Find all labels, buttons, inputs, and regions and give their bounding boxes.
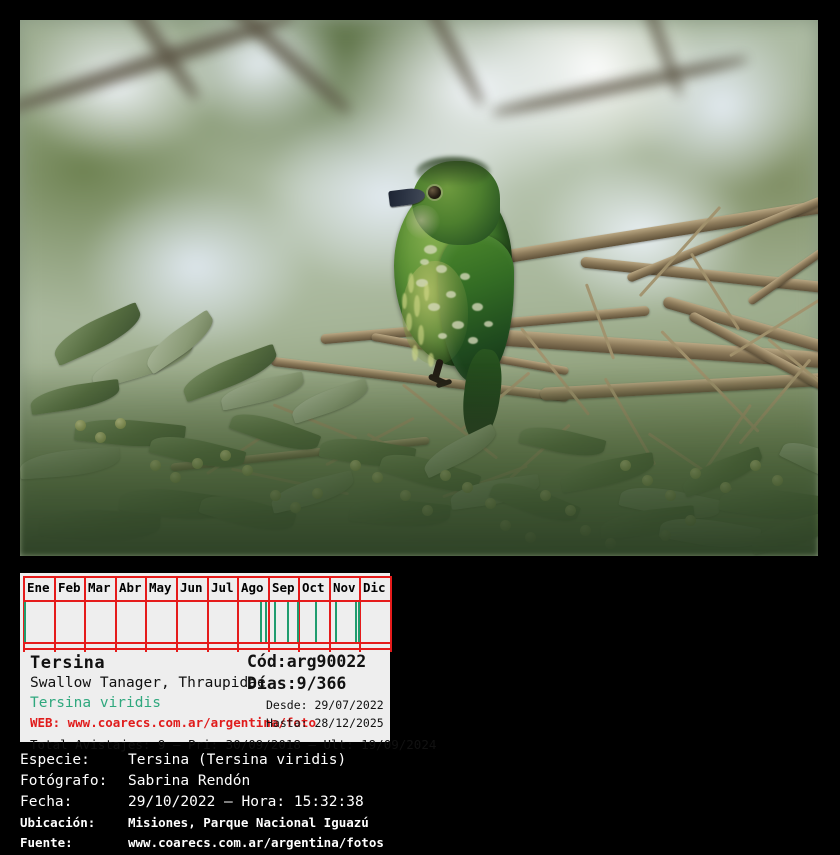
calendar-vline-12: [390, 576, 392, 652]
plumage-spot: [460, 273, 470, 280]
ubicacion-value: Misiones, Parque Nacional Iguazú: [128, 815, 369, 830]
fecha-label: Fecha:: [20, 794, 72, 810]
calendar-month-nov: Nov: [329, 577, 360, 599]
calendar-sighting-mark: [358, 602, 360, 642]
plumage-streak: [408, 273, 414, 293]
meta-row-ubicacion: Ubicación: Misiones, Parque Nacional Igu…: [20, 815, 820, 835]
sightings-calendar-panel: EneFebMarAbrMayJunJulAgoSepOctNovDic Ter…: [20, 573, 390, 742]
plumage-spot: [452, 321, 464, 329]
species-code: Cód:arg90022: [247, 652, 366, 671]
plumage-spot: [446, 291, 456, 298]
plumage-streak: [424, 283, 429, 301]
calendar-sighting-mark: [287, 602, 289, 642]
calendar-month-jun: Jun: [176, 577, 207, 599]
plumage-spot: [424, 245, 437, 254]
especie-label: Especie:: [20, 752, 90, 768]
calendar-month-ene: Ene: [23, 577, 54, 599]
bird-photo: [20, 20, 818, 556]
bird-eye: [428, 186, 441, 199]
meta-row-fuente: Fuente: www.coarecs.com.ar/argentina/fot…: [20, 835, 820, 855]
plumage-spot: [484, 321, 493, 327]
calendar-sighting-mark: [297, 602, 299, 642]
calendar-month-abr: Abr: [115, 577, 146, 599]
fotografo-label: Fotógrafo:: [20, 773, 107, 789]
species-scientific-name: Tersina viridis: [30, 695, 161, 711]
range-to: Hasta: 28/12/2025: [266, 716, 384, 730]
calendar-month-feb: Feb: [54, 577, 85, 599]
calendar-month-oct: Oct: [298, 577, 329, 599]
especie-value: Tersina (Tersina viridis): [128, 752, 346, 768]
calendar-month-sep: Sep: [268, 577, 299, 599]
total-sightings: Total Avistajes: 9 – Pri: 30/09/2018 – U…: [30, 737, 436, 752]
ubicacion-label: Ubicación:: [20, 815, 95, 830]
calendar-sighting-mark: [355, 602, 357, 642]
calendar-month-mar: Mar: [84, 577, 115, 599]
plumage-streak: [418, 325, 424, 345]
fotografo-value: Sabrina Rendón: [128, 773, 250, 789]
meta-row-fotografo: Fotógrafo: Sabrina Rendón: [20, 773, 820, 794]
bird-cheek: [406, 205, 440, 239]
plumage-streak: [428, 353, 434, 367]
plumage-spot: [436, 265, 447, 273]
plumage-streak: [412, 345, 418, 361]
calendar-month-may: May: [145, 577, 176, 599]
species-common-name: Swallow Tanager, Thraupidae: [30, 675, 266, 691]
range-from: Desde: 29/07/2022: [266, 698, 384, 712]
photo-metadata: Especie: Tersina (Tersina viridis) Fotóg…: [20, 752, 820, 855]
calendar-sighting-mark: [335, 602, 337, 642]
calendar-month-jul: Jul: [207, 577, 238, 599]
calendar-sighting-mark: [260, 602, 262, 642]
calendar-sighting-mark: [24, 602, 26, 642]
plumage-spot: [438, 333, 447, 339]
fecha-value: 29/10/2022 – Hora: 15:32:38: [128, 794, 364, 810]
plumage-streak: [414, 295, 420, 317]
calendar-sighting-mark: [274, 602, 276, 642]
calendar-grid: EneFebMarAbrMayJunJulAgoSepOctNovDic: [23, 576, 390, 652]
plumage-spot: [428, 303, 440, 311]
plumage-streak: [406, 313, 412, 331]
bird-nape: [416, 157, 490, 187]
calendar-month-ago: Ago: [237, 577, 268, 599]
plumage-spot: [472, 303, 483, 311]
species-days: Días:9/366: [247, 674, 346, 693]
species-name: Tersina: [30, 653, 105, 673]
meta-row-especie: Especie: Tersina (Tersina viridis): [20, 752, 820, 773]
species-info-card: Tersina Swallow Tanager, Thraupidae Ters…: [23, 653, 387, 739]
fuente-value[interactable]: www.coarecs.com.ar/argentina/fotos: [128, 835, 384, 850]
fuente-label: Fuente:: [20, 835, 73, 850]
plumage-streak: [402, 293, 407, 309]
foreground-shadow: [20, 366, 818, 556]
calendar-sighting-mark: [315, 602, 317, 642]
calendar-sighting-mark: [265, 602, 267, 642]
plumage-spot: [468, 337, 478, 344]
calendar-month-dic: Dic: [359, 577, 390, 599]
meta-row-fecha: Fecha: 29/10/2022 – Hora: 15:32:38: [20, 794, 820, 815]
plumage-spot: [420, 259, 429, 265]
